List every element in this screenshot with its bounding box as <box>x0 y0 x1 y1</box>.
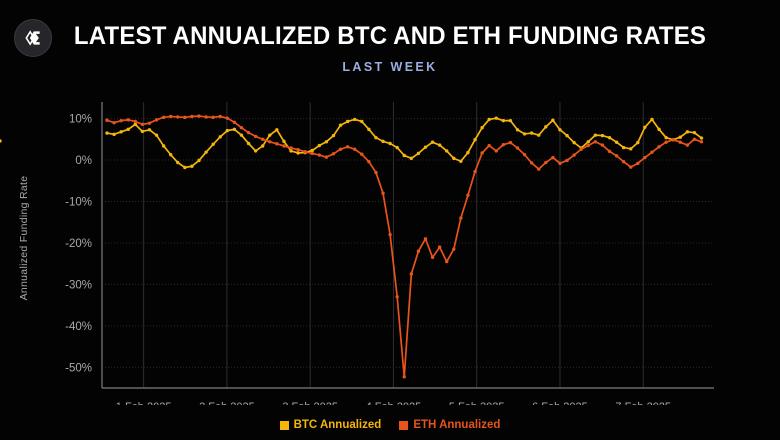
y-tick-label: 0% <box>75 155 92 167</box>
y-tick-label: -20% <box>65 238 92 250</box>
legend-label-btc: BTC Annualized <box>294 419 382 431</box>
axis-lines <box>102 102 714 388</box>
page-title: LATEST ANNUALIZED BTC AND ETH FUNDING RA… <box>16 22 765 51</box>
chart-area: Annualized Funding Rate 10%0%-10%-20%-30… <box>0 90 780 405</box>
funding-rate-line-chart: 10%0%-10%-20%-30%-40%-50% 1 Feb 20252 Fe… <box>0 90 780 405</box>
grid-lines <box>102 102 714 388</box>
y-tick-label: -10% <box>65 196 92 208</box>
chart-legend: BTC Annualized ETH Annualized <box>0 419 780 431</box>
y-tick-label: -40% <box>65 321 92 333</box>
legend-swatch-btc <box>280 421 289 430</box>
x-tick-label: 1 Feb 2025 <box>116 401 172 405</box>
legend-item-eth[interactable]: ETH Annualized <box>399 419 500 431</box>
x-tick-label: 6 Feb 2025 <box>532 401 588 405</box>
y-tick-label: -50% <box>65 362 92 374</box>
legend-item-btc[interactable]: BTC Annualized <box>280 419 382 431</box>
x-tick-label: 4 Feb 2025 <box>366 401 422 405</box>
x-tick-label: 5 Feb 2025 <box>449 401 505 405</box>
page-subtitle: LAST WEEK <box>0 60 780 74</box>
y-tick-label: 10% <box>69 114 92 126</box>
legend-label-eth: ETH Annualized <box>413 419 500 431</box>
x-tick-label: 3 Feb 2025 <box>282 401 338 405</box>
y-tick-label: -30% <box>65 279 92 291</box>
x-tick-label: 2 Feb 2025 <box>199 401 255 405</box>
data-series-group <box>0 114 703 378</box>
y-axis-ticks: 10%0%-10%-20%-30%-40%-50% <box>65 114 92 375</box>
x-axis-ticks: 1 Feb 20252 Feb 20253 Feb 20254 Feb 2025… <box>116 401 671 405</box>
legend-swatch-eth <box>399 421 408 430</box>
x-tick-label: 7 Feb 2025 <box>615 401 671 405</box>
y-axis-label: Annualized Funding Rate <box>18 148 30 328</box>
chart-card: LATEST ANNUALIZED BTC AND ETH FUNDING RA… <box>0 0 780 440</box>
